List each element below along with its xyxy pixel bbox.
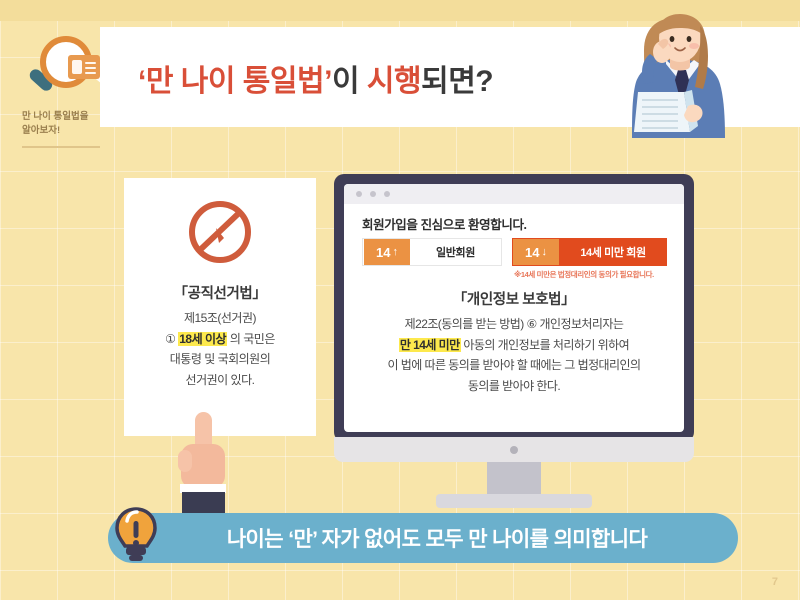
monitor-stand-neck bbox=[487, 462, 541, 496]
sidebar-caption-line: 만 나이 통일법을 bbox=[22, 111, 88, 122]
browser-dot-maximize[interactable] bbox=[384, 191, 390, 197]
page-number: 7 bbox=[772, 576, 778, 588]
badge-age-minor: 14 ↓ bbox=[513, 239, 559, 265]
law-text-segment: 선거권이 있다. bbox=[186, 373, 255, 387]
id-card-photo bbox=[72, 60, 82, 74]
right-law-body: 제22조(동의를 받는 방법) ⑥ 개인정보처리자는만 14세 미만 아동의 개… bbox=[356, 314, 672, 397]
law-text-segment: 대통령 및 국회의원의 bbox=[170, 352, 271, 366]
badge-age-normal: 14 ↑ bbox=[364, 239, 410, 265]
bottom-banner-text: 나이는 ‘만’ 자가 없어도 모두 만 나이를 의미합니다 bbox=[108, 513, 738, 563]
law-text-segment: 동의를 받아야 한다. bbox=[468, 379, 560, 393]
slide-canvas: ‘만 나이 통일법’이 시행되면? 만 나이 통일법을알아보자! bbox=[0, 0, 800, 600]
membership-badge-normal[interactable]: 14 ↑ 일반회원 bbox=[362, 238, 502, 266]
law-text-segment: 의 국민은 bbox=[227, 332, 275, 346]
law-text-segment: 아동의 개인정보를 처리하기 위하여 bbox=[461, 338, 630, 352]
title-segment: 되면? bbox=[421, 65, 493, 98]
signup-heading: 회원가입을 진심으로 환영합니다. bbox=[362, 214, 527, 233]
browser-title-bar bbox=[344, 184, 684, 204]
magnifier-ring bbox=[40, 36, 92, 88]
sidebar-caption-line: 알아보자! bbox=[22, 125, 60, 136]
badge-age-number: 14 bbox=[525, 245, 539, 260]
browser-dot-close[interactable] bbox=[356, 191, 362, 197]
monitor-screen: 회원가입을 진심으로 환영합니다. 14 ↑ 일반회원 14 ↓ 14세 미만 … bbox=[344, 184, 684, 432]
left-law-title: 「공직선거법」 bbox=[124, 282, 316, 303]
badge-label-minor: 14세 미만 회원 bbox=[559, 244, 667, 260]
highlighted-phrase: 18세 이상 bbox=[178, 332, 227, 346]
law-text-segment: 제22조(동의를 받는 방법) ⑥ 개인정보처리자는 bbox=[405, 317, 624, 331]
magnifier-id-card-icon bbox=[28, 36, 96, 100]
signup-consent-note: ※14세 미만은 법정대리인의 동의가 필요합니다. bbox=[514, 269, 654, 280]
person-illustration bbox=[600, 14, 760, 138]
ballot-no-entry-icon bbox=[186, 198, 254, 266]
monitor-power-indicator bbox=[510, 446, 518, 454]
page-title: ‘만 나이 통일법’이 시행되면? bbox=[138, 56, 493, 100]
hand-thumb bbox=[178, 450, 192, 472]
title-segment: 시행 bbox=[367, 65, 421, 98]
law-text-segment: 이 법에 따른 동의를 받아야 할 때에는 그 법정대리인의 bbox=[387, 358, 640, 372]
left-law-card: 「공직선거법」 제15조(선거권)① 18세 이상 의 국민은대통령 및 국회의… bbox=[124, 178, 316, 436]
pointing-hand-icon bbox=[178, 412, 230, 522]
law-text-segment: 제15조(선거권) bbox=[184, 311, 256, 325]
sidebar-divider bbox=[22, 146, 100, 148]
badge-label-normal: 일반회원 bbox=[410, 244, 501, 260]
id-card-icon bbox=[68, 55, 100, 79]
id-card-line bbox=[85, 62, 96, 64]
lightbulb-icon bbox=[112, 505, 160, 567]
highlighted-phrase: 만 14세 미만 bbox=[399, 338, 461, 352]
browser-dot-minimize[interactable] bbox=[370, 191, 376, 197]
title-segment: ‘만 나이 통일법’ bbox=[138, 65, 332, 98]
arrow-up-icon: ↑ bbox=[392, 247, 398, 258]
id-card-line bbox=[85, 72, 96, 74]
monitor-stand-base bbox=[436, 494, 592, 508]
arrow-down-icon: ↓ bbox=[541, 247, 547, 258]
badge-age-number: 14 bbox=[376, 245, 390, 260]
left-law-body: 제15조(선거권)① 18세 이상 의 국민은대통령 및 국회의원의선거권이 있… bbox=[134, 308, 306, 391]
title-segment: 이 bbox=[332, 65, 367, 98]
membership-badge-minor[interactable]: 14 ↓ 14세 미만 회원 bbox=[512, 238, 667, 266]
law-text-segment: ① bbox=[165, 332, 178, 346]
right-law-title: 「개인정보 보호법」 bbox=[344, 288, 684, 309]
monitor-bezel: 회원가입을 진심으로 환영합니다. 14 ↑ 일반회원 14 ↓ 14세 미만 … bbox=[334, 174, 694, 442]
id-card-line bbox=[85, 67, 96, 69]
sidebar-caption: 만 나이 통일법을알아보자! bbox=[22, 110, 102, 138]
